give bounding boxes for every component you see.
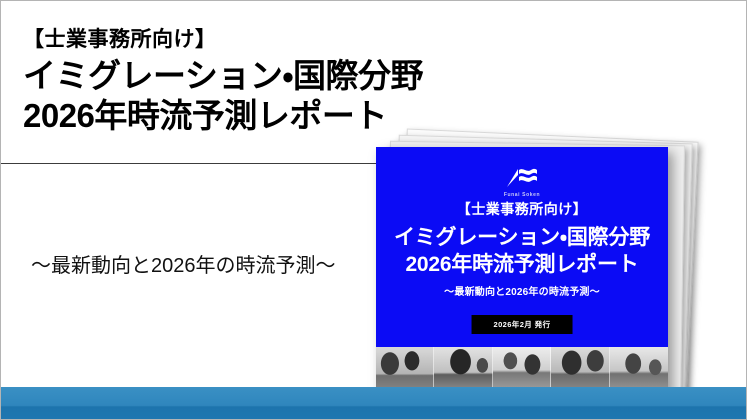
slide-subhead: 〜最新動向と2026年の時流予測〜 [31, 251, 351, 281]
report-book-mockup: Funai Soken 【士業事務所向け】 イミグレーション・国際分野 2026… [375, 133, 705, 395]
bottom-accent-bar [1, 387, 746, 419]
cover-title-line-1: イミグレーション・国際分野 [376, 221, 668, 251]
headline-divider [1, 163, 381, 164]
slide-canvas: 【士業事務所向け】 イミグレーション・国際分野 2026年時流予測レポート 〜最… [0, 0, 747, 420]
funai-soken-wordmark: Funai Soken [376, 192, 668, 198]
funai-soken-logo: Funai Soken [376, 166, 668, 196]
slide-title-line-2: 2026年時流予測レポート [23, 97, 493, 136]
slide-title-line-1: イミグレーション・国際分野 [23, 57, 493, 96]
cover-subtitle: 〜最新動向と2026年の時流予測〜 [376, 283, 668, 298]
report-cover: Funai Soken 【士業事務所向け】 イミグレーション・国際分野 2026… [376, 147, 668, 393]
slide-eyebrow: 【士業事務所向け】 [23, 27, 493, 53]
cover-eyebrow: 【士業事務所向け】 [376, 199, 668, 219]
cover-title-line-2: 2026年時流予測レポート [376, 248, 668, 278]
cover-issue-badge: 2026年2月 発行 [472, 315, 573, 334]
headline-block: 【士業事務所向け】 イミグレーション・国際分野 2026年時流予測レポート [23, 27, 493, 136]
funai-soken-flag-icon [505, 166, 539, 188]
